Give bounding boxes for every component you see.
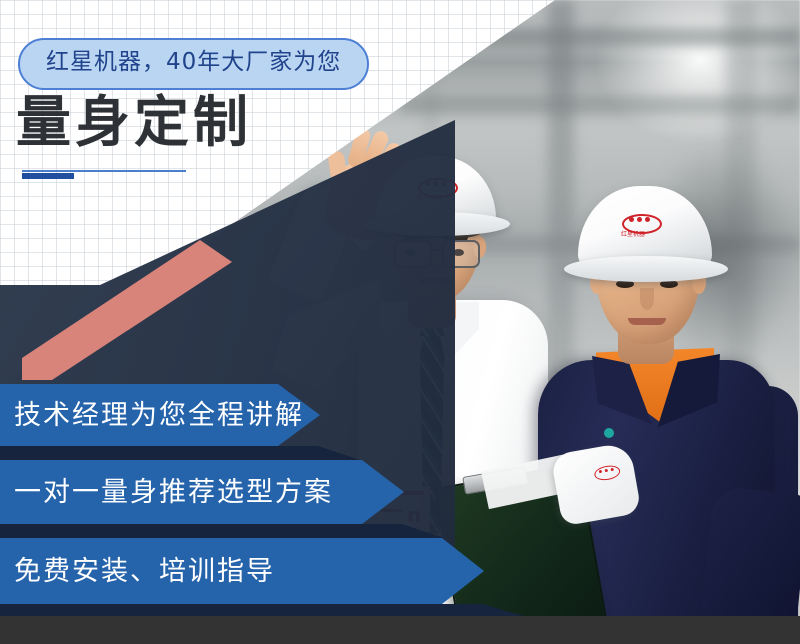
title-underline-thin	[22, 170, 186, 172]
helmet-logo-icon: 红星机器	[618, 210, 662, 236]
feature-bar-2-label: 一对一量身推荐选型方案	[14, 479, 333, 506]
worker-glove	[550, 442, 641, 527]
feature-bar-1-label: 技术经理为您全程讲解	[14, 402, 304, 429]
tagline-badge: 红星机器，40年大厂家为您	[18, 38, 369, 90]
worker-hard-hat-brim	[564, 256, 728, 282]
feature-bar-shadow	[0, 604, 524, 616]
promo-banner: 红星机器 n	[0, 0, 800, 644]
title-underline-thick	[22, 173, 74, 179]
bottom-strip	[0, 616, 800, 644]
helmet-logo-text: 红星机器	[621, 229, 645, 238]
feature-bar-2: 一对一量身推荐选型方案	[0, 460, 404, 524]
glove-logo-icon	[593, 460, 623, 490]
feature-bar-shadow	[0, 524, 444, 538]
worker-mouth	[628, 318, 666, 325]
worker-jacket-button	[604, 428, 614, 438]
feature-bar-shadow	[0, 446, 360, 460]
feature-bar-3-label: 免费安装、培训指导	[14, 558, 275, 585]
worker-right: 红星机器	[500, 190, 800, 644]
worker-nose	[640, 288, 654, 310]
feature-bar-3: 免费安装、培训指导	[0, 538, 484, 604]
page-title: 量身定制	[16, 92, 252, 153]
feature-bar-1: 技术经理为您全程讲解	[0, 384, 320, 446]
